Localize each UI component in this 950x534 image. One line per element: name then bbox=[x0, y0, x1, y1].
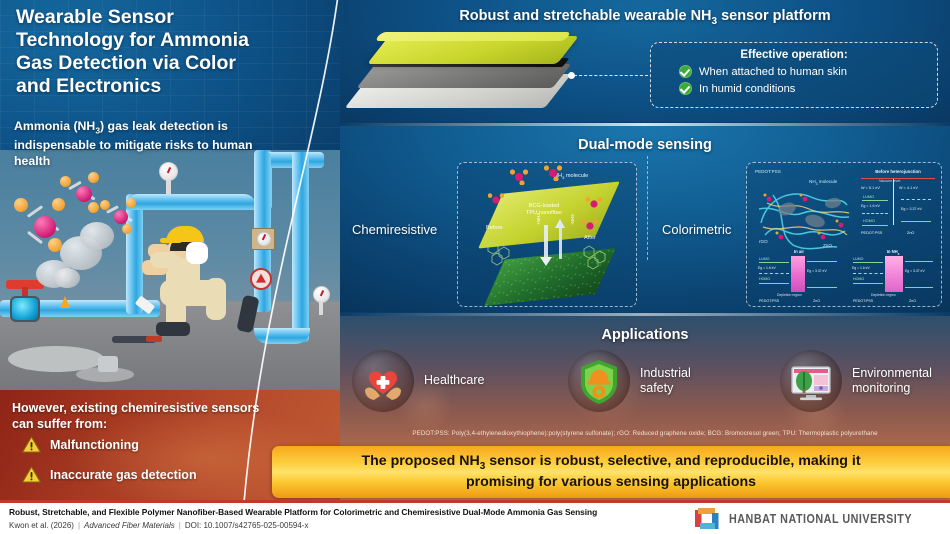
citation-separator: | bbox=[74, 521, 84, 530]
paper-doi: DOI: 10.1007/s42765-025-00594-x bbox=[185, 521, 309, 530]
lumo-label: LUMO bbox=[863, 195, 874, 199]
up-arrow-head bbox=[555, 219, 565, 228]
depletion-region-label: Depletion region bbox=[871, 293, 896, 297]
depletion-region-bar bbox=[885, 256, 903, 292]
homo-line bbox=[853, 283, 883, 284]
band-axis-separator bbox=[893, 179, 894, 225]
infographic-poster: Wearable Sensor Technology for Ammonia G… bbox=[0, 0, 950, 534]
homo-label: HOMO bbox=[863, 219, 875, 223]
mode-label-colorimetric: Colorimetric bbox=[662, 222, 731, 237]
axis-label-pedotpss: PEDOT:PSS bbox=[853, 299, 873, 303]
axis-label-pedotpss: PEDOT:PSS bbox=[759, 299, 779, 303]
effective-operation-box: Effective operation: When attached to hu… bbox=[650, 42, 938, 108]
connector-line bbox=[574, 75, 648, 76]
eg-left-label: Eg = 1.6 eV bbox=[852, 266, 870, 270]
vacuum-level-label: Vacuum level bbox=[879, 179, 900, 183]
pressure-gauge-right bbox=[313, 286, 330, 303]
paper-authors: Kwon et al. (2026) bbox=[9, 521, 74, 530]
nh3-network-label: NH3 molecule bbox=[809, 179, 837, 186]
effective-operation-label: When attached to human skin bbox=[699, 66, 847, 78]
worker-shin-back bbox=[206, 278, 226, 320]
application-item-healthcare[interactable]: Healthcare bbox=[352, 350, 484, 412]
homo-line bbox=[759, 283, 789, 284]
conclusion-banner: The proposed NH3 sensor is robust, selec… bbox=[272, 446, 950, 498]
band-before-title: Before heterojunction bbox=[857, 169, 939, 174]
band-diagram-before: Before heterojunction Vacuum level W = 5… bbox=[857, 169, 939, 247]
down-arrow-shaft bbox=[544, 225, 548, 259]
effective-operation-title: Effective operation: bbox=[651, 49, 937, 61]
fermi-line-left bbox=[862, 213, 888, 214]
small-equipment bbox=[98, 356, 118, 372]
bcg-structure-before bbox=[482, 237, 516, 267]
band-diagram-in-nh3: In NH3 LUMO Eg = 1.6 eV HOMO Eg = 3.37 e… bbox=[849, 249, 937, 305]
eg-left-label: Eg = 1.6 eV bbox=[861, 204, 880, 208]
fermi-line-left bbox=[853, 273, 883, 274]
band-diagram-in-air: In air LUMO Eg = 1.6 eV HOMO Eg = 3.37 e… bbox=[755, 249, 843, 305]
worker-boot bbox=[156, 322, 190, 336]
effective-operation-item-humid: In humid conditions bbox=[679, 82, 937, 95]
problem-item-label: Inaccurate gas detection bbox=[50, 468, 197, 482]
left-problem-panel: Wearable Sensor Technology for Ammonia G… bbox=[0, 0, 340, 503]
nh3-molecule-glyph bbox=[582, 219, 598, 238]
lumo-line bbox=[862, 200, 888, 201]
lumo-label: LUMO bbox=[759, 257, 769, 261]
effective-operation-label: In humid conditions bbox=[699, 83, 795, 95]
leak-spark-icon bbox=[60, 296, 70, 308]
zno-cb-line bbox=[901, 199, 931, 200]
ammonia-molecule bbox=[100, 198, 142, 240]
pressure-gauge-small bbox=[257, 232, 271, 246]
gauge-stem bbox=[319, 302, 323, 315]
intro-statement: Ammonia (NH3) gas leak detection is indi… bbox=[14, 118, 269, 169]
bcg-structure-after bbox=[578, 241, 612, 271]
application-label: Industrialsafety bbox=[640, 366, 691, 397]
film-label: BCG-loaded TPU nanofiber bbox=[526, 203, 562, 217]
heart-in-hands-icon bbox=[352, 350, 414, 412]
nh3-molecule-glyph bbox=[544, 165, 562, 186]
applications-title: Applications bbox=[340, 327, 950, 343]
work-function-left: W = 5.1 eV bbox=[861, 186, 880, 190]
worker-arm bbox=[150, 252, 176, 268]
gas-leak-worker-illustration bbox=[0, 150, 340, 390]
university-name: HANBAT NATIONAL UNIVERSITY bbox=[729, 512, 912, 526]
plus-nh3-label: +NH3 bbox=[536, 213, 541, 225]
work-function-right: W = 4.1 eV bbox=[899, 186, 918, 190]
pedotpss-rgo-zno-band-diagram: PEDOT:PSS NH3 molecule rGO ZnO Before he… bbox=[746, 162, 942, 307]
pedotpss-network-label: PEDOT:PSS bbox=[755, 169, 781, 174]
paper-title: Robust, Stretchable, and Flexible Polyme… bbox=[9, 507, 597, 517]
axis-label-zno: ZnO bbox=[907, 231, 914, 235]
zno-label: ZnO bbox=[823, 243, 832, 248]
hero-title: Robust and stretchable wearable NH3 sens… bbox=[340, 8, 950, 27]
eg-right-label: Eg = 3.37 eV bbox=[807, 269, 827, 273]
application-label: Environmentalmonitoring bbox=[852, 366, 932, 397]
eg-right-label: Eg = 3.37 eV bbox=[901, 207, 922, 211]
axis-label-zno: ZnO bbox=[813, 299, 820, 303]
application-item-industrial-safety[interactable]: Industrialsafety bbox=[568, 350, 691, 412]
application-item-environmental-monitoring[interactable]: Environmentalmonitoring bbox=[780, 350, 932, 412]
eg-right-label: Eg = 3.37 eV bbox=[905, 269, 925, 273]
university-branding: HANBAT NATIONAL UNIVERSITY bbox=[694, 507, 942, 530]
dual-mode-title: Dual-mode sensing bbox=[340, 137, 950, 153]
check-circle-icon bbox=[679, 65, 692, 78]
problem-item-label: Malfunctioning bbox=[50, 438, 139, 452]
dual-mode-vertical-separator bbox=[647, 156, 648, 260]
citation-separator: | bbox=[175, 521, 185, 530]
lumo-line bbox=[853, 262, 883, 263]
application-label: Healthcare bbox=[424, 373, 484, 388]
valve-indicator-red bbox=[250, 268, 272, 290]
axis-label-zno: ZnO bbox=[909, 299, 916, 303]
problem-heading: However, existing chemiresistive sensors… bbox=[12, 400, 262, 433]
paper-citation: Kwon et al. (2026)|Advanced Fiber Materi… bbox=[9, 521, 308, 530]
effective-operation-item-skin: When attached to human skin bbox=[679, 65, 937, 78]
polymer-network-sketch bbox=[753, 175, 857, 255]
zno-cb-line bbox=[905, 261, 933, 262]
helmet-brim bbox=[160, 238, 182, 243]
homo-label: HOMO bbox=[853, 277, 864, 281]
footer-bar: Robust, Stretchable, and Flexible Polyme… bbox=[0, 503, 950, 534]
gas-cloud bbox=[54, 268, 80, 288]
journal-name: Advanced Fiber Materials bbox=[84, 521, 175, 530]
gauge-stem bbox=[166, 180, 171, 194]
monitor-tree-icon bbox=[780, 350, 842, 412]
problem-item-malfunctioning: Malfunctioning bbox=[22, 436, 139, 453]
worker-sleeve bbox=[186, 242, 208, 264]
lumo-label: LUMO bbox=[853, 257, 863, 261]
nh3-molecule-glyph bbox=[586, 197, 602, 216]
homo-label: HOMO bbox=[759, 277, 770, 281]
hanbat-logo-icon bbox=[694, 507, 720, 530]
zno-vb-line bbox=[905, 287, 933, 288]
bcg-tpu-nanofiber-diagram: NH3 molecule BCG-loaded TPU nanofiber Be… bbox=[457, 162, 637, 307]
axis-label-pedotpss: PEDOT:PSS bbox=[861, 231, 882, 235]
wrench-handle bbox=[146, 336, 162, 342]
minus-nh3-label: -NH3 bbox=[570, 214, 575, 225]
riser-pipe-b bbox=[292, 152, 309, 342]
page-title: Wearable Sensor Technology for Ammonia G… bbox=[16, 6, 278, 98]
zno-vb-line bbox=[901, 221, 931, 222]
rgo-label: rGO bbox=[759, 239, 768, 244]
safety-shield-icon bbox=[568, 350, 630, 412]
check-circle-icon bbox=[679, 82, 692, 95]
conclusion-text: The proposed NH3 sensor is robust, selec… bbox=[347, 452, 874, 492]
homo-line bbox=[862, 225, 888, 226]
valve-body bbox=[10, 296, 40, 322]
abbreviations-note: PEDOT:PSS: Poly(3,4-ethylenedioxythiophe… bbox=[340, 430, 950, 437]
warning-triangle-icon bbox=[22, 436, 41, 453]
pipe-elbow bbox=[126, 194, 256, 210]
nh3-molecule-glyph bbox=[488, 193, 504, 212]
band-nh3-title: In NH3 bbox=[849, 249, 937, 256]
fermi-line-left bbox=[759, 273, 789, 274]
mode-label-chemiresistive: Chemiresistive bbox=[352, 222, 437, 237]
warning-triangle-icon bbox=[22, 466, 41, 483]
problem-item-inaccurate-detection: Inaccurate gas detection bbox=[22, 466, 197, 483]
band-air-title: In air bbox=[755, 249, 843, 254]
before-label: Before bbox=[486, 225, 502, 231]
lumo-line bbox=[759, 262, 789, 263]
grey-nanofiber-layer bbox=[357, 64, 572, 88]
zno-vb-line bbox=[807, 287, 837, 288]
zno-cb-line bbox=[807, 261, 837, 262]
nh3-molecule-glyph bbox=[510, 169, 528, 190]
up-arrow-shaft bbox=[559, 227, 562, 259]
right-content-column: Robust and stretchable wearable NH3 sens… bbox=[340, 0, 950, 503]
down-arrow-head bbox=[540, 257, 552, 266]
pipe-u-bend bbox=[254, 328, 310, 344]
eg-left-label: Eg = 1.6 eV bbox=[758, 266, 776, 270]
depletion-region-label: Depletion region bbox=[777, 293, 802, 297]
depletion-region-bar bbox=[791, 256, 805, 292]
top-surface-highlight bbox=[374, 32, 571, 41]
